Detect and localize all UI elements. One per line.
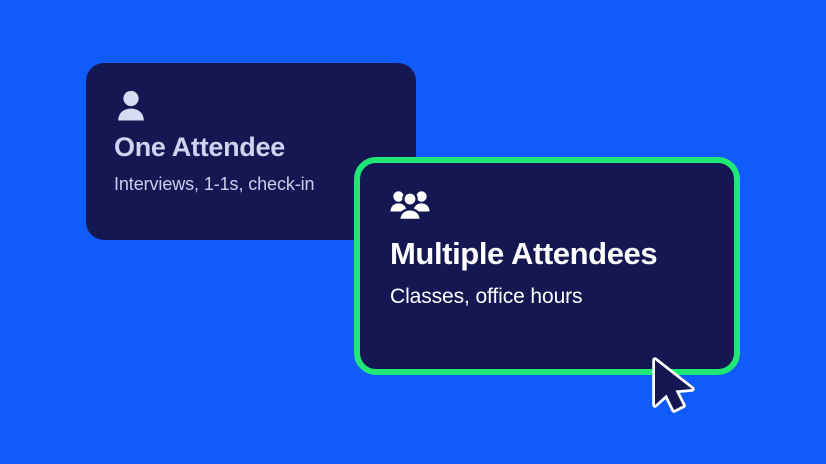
canvas: One Attendee Interviews, 1-1s, check-in … <box>0 0 826 464</box>
card-title: Multiple Attendees <box>390 237 706 271</box>
card-title: One Attendee <box>114 133 388 163</box>
card-subtitle: Classes, office hours <box>390 284 706 309</box>
single-person-icon <box>114 89 148 123</box>
card-multiple-attendees[interactable]: Multiple Attendees Classes, office hours <box>354 157 740 375</box>
card-subtitle: Interviews, 1-1s, check-in <box>114 174 388 196</box>
group-people-icon <box>390 189 430 221</box>
